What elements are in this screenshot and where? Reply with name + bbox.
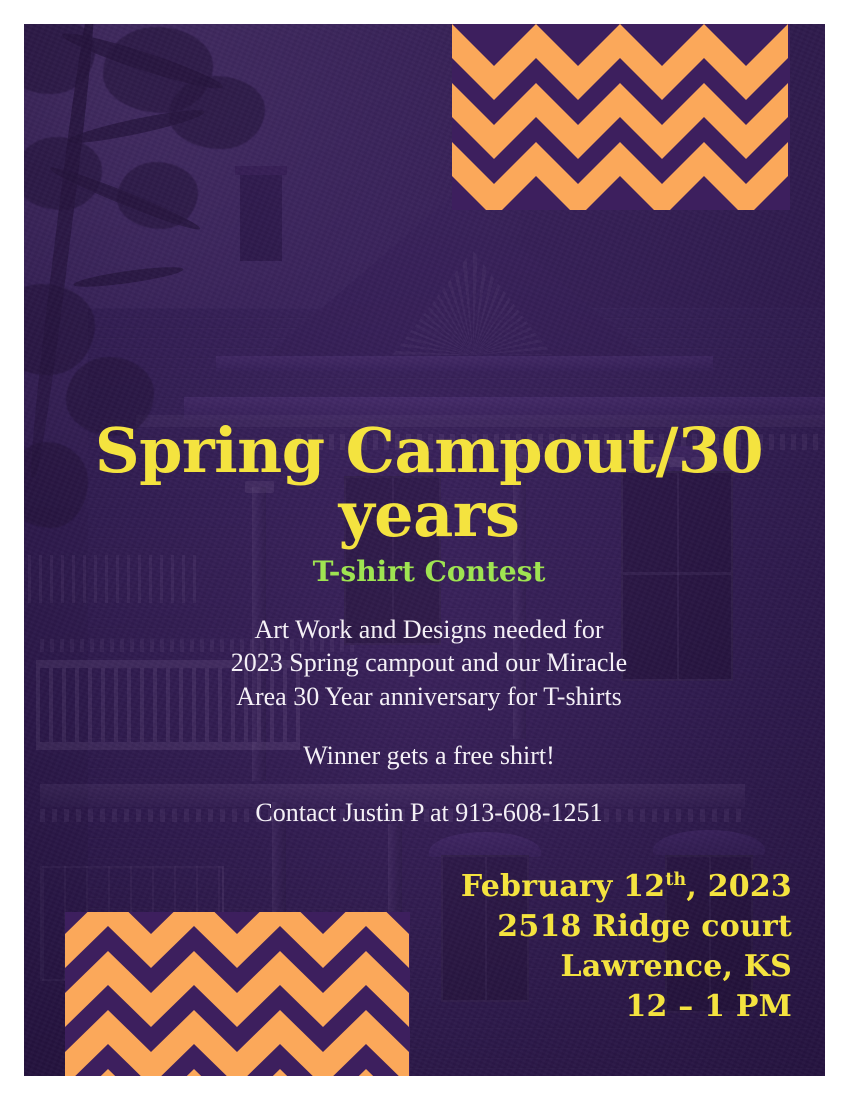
event-date-suffix: , 2023 (686, 869, 792, 904)
event-time: 12 – 1 PM (232, 987, 792, 1027)
body-line-3: Area 30 Year anniversary for T-shirts (84, 680, 774, 713)
contact-line: Contact Justin P at 913-608-1251 (84, 796, 774, 829)
event-date-prefix: February 12 (461, 869, 665, 904)
flyer-page: Spring Campout/30 years T-shirt Contest … (0, 0, 850, 1100)
flyer-subheadline: T-shirt Contest (84, 555, 774, 588)
flyer-content: Spring Campout/30 years T-shirt Contest … (24, 24, 825, 1076)
event-address: 2518 Ridge court (232, 907, 792, 947)
event-date: February 12th, 2023 (232, 867, 792, 907)
event-details-block: February 12th, 2023 2518 Ridge court Law… (232, 867, 792, 1027)
flyer-headline: Spring Campout/30 years (84, 419, 774, 547)
prize-line: Winner gets a free shirt! (84, 739, 774, 772)
flyer-body: Art Work and Designs needed for 2023 Spr… (84, 613, 774, 829)
body-line-1: Art Work and Designs needed for (84, 613, 774, 646)
flyer-canvas: Spring Campout/30 years T-shirt Contest … (24, 24, 825, 1076)
body-line-2: 2023 Spring campout and our Miracle (84, 646, 774, 679)
event-date-ordinal: th (665, 870, 686, 890)
event-city-state: Lawrence, KS (232, 947, 792, 987)
